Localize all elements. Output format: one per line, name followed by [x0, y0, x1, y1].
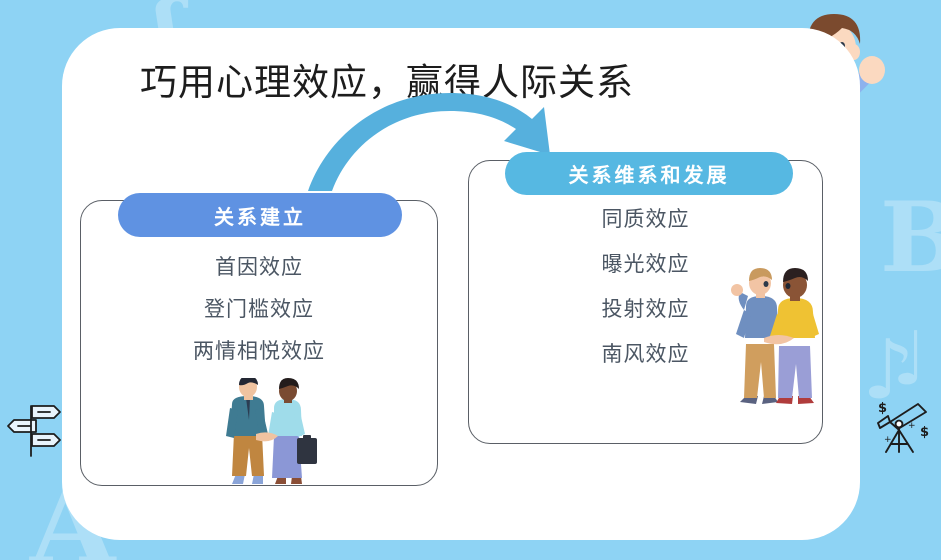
card-relationship-maintenance[interactable]: 同质效应 曝光效应 投射效应 南风效应: [468, 160, 823, 444]
page-title: 巧用心理效应，赢得人际关系: [140, 52, 634, 106]
list-item: 南风效应: [469, 344, 822, 365]
list-item: 首因效应: [81, 257, 437, 278]
list-item: 投射效应: [469, 299, 822, 320]
effect-list-building: 首因效应 登门槛效应 两情相悦效应: [81, 257, 437, 383]
card-header-relationship-building[interactable]: 关系建立: [118, 193, 402, 237]
list-item: 同质效应: [469, 209, 822, 230]
watermark-b-letter: B: [880, 190, 941, 286]
list-item: 曝光效应: [469, 254, 822, 275]
effect-list-maintenance: 同质效应 曝光效应 投射效应 南风效应: [469, 209, 822, 389]
list-item: 两情相悦效应: [81, 341, 437, 362]
card-header-relationship-maintenance[interactable]: 关系维系和发展: [505, 152, 793, 195]
svg-text:+: +: [884, 435, 892, 445]
svg-text:+: +: [908, 421, 916, 431]
svg-text:$: $: [920, 425, 929, 440]
watermark-music-note-icon: ♪: [862, 330, 914, 412]
telescope-dollar-icon: $ $ + +: [872, 398, 934, 456]
card-relationship-building[interactable]: 首因效应 登门槛效应 两情相悦效应: [80, 200, 438, 486]
watermark-music-note2-icon: ♩: [892, 322, 927, 396]
slide-canvas: ʃ A B ♪ ♩ 巧用: [0, 0, 941, 560]
svg-text:$: $: [878, 401, 887, 416]
list-item: 登门槛效应: [81, 299, 437, 320]
signpost-icon: [6, 398, 66, 458]
